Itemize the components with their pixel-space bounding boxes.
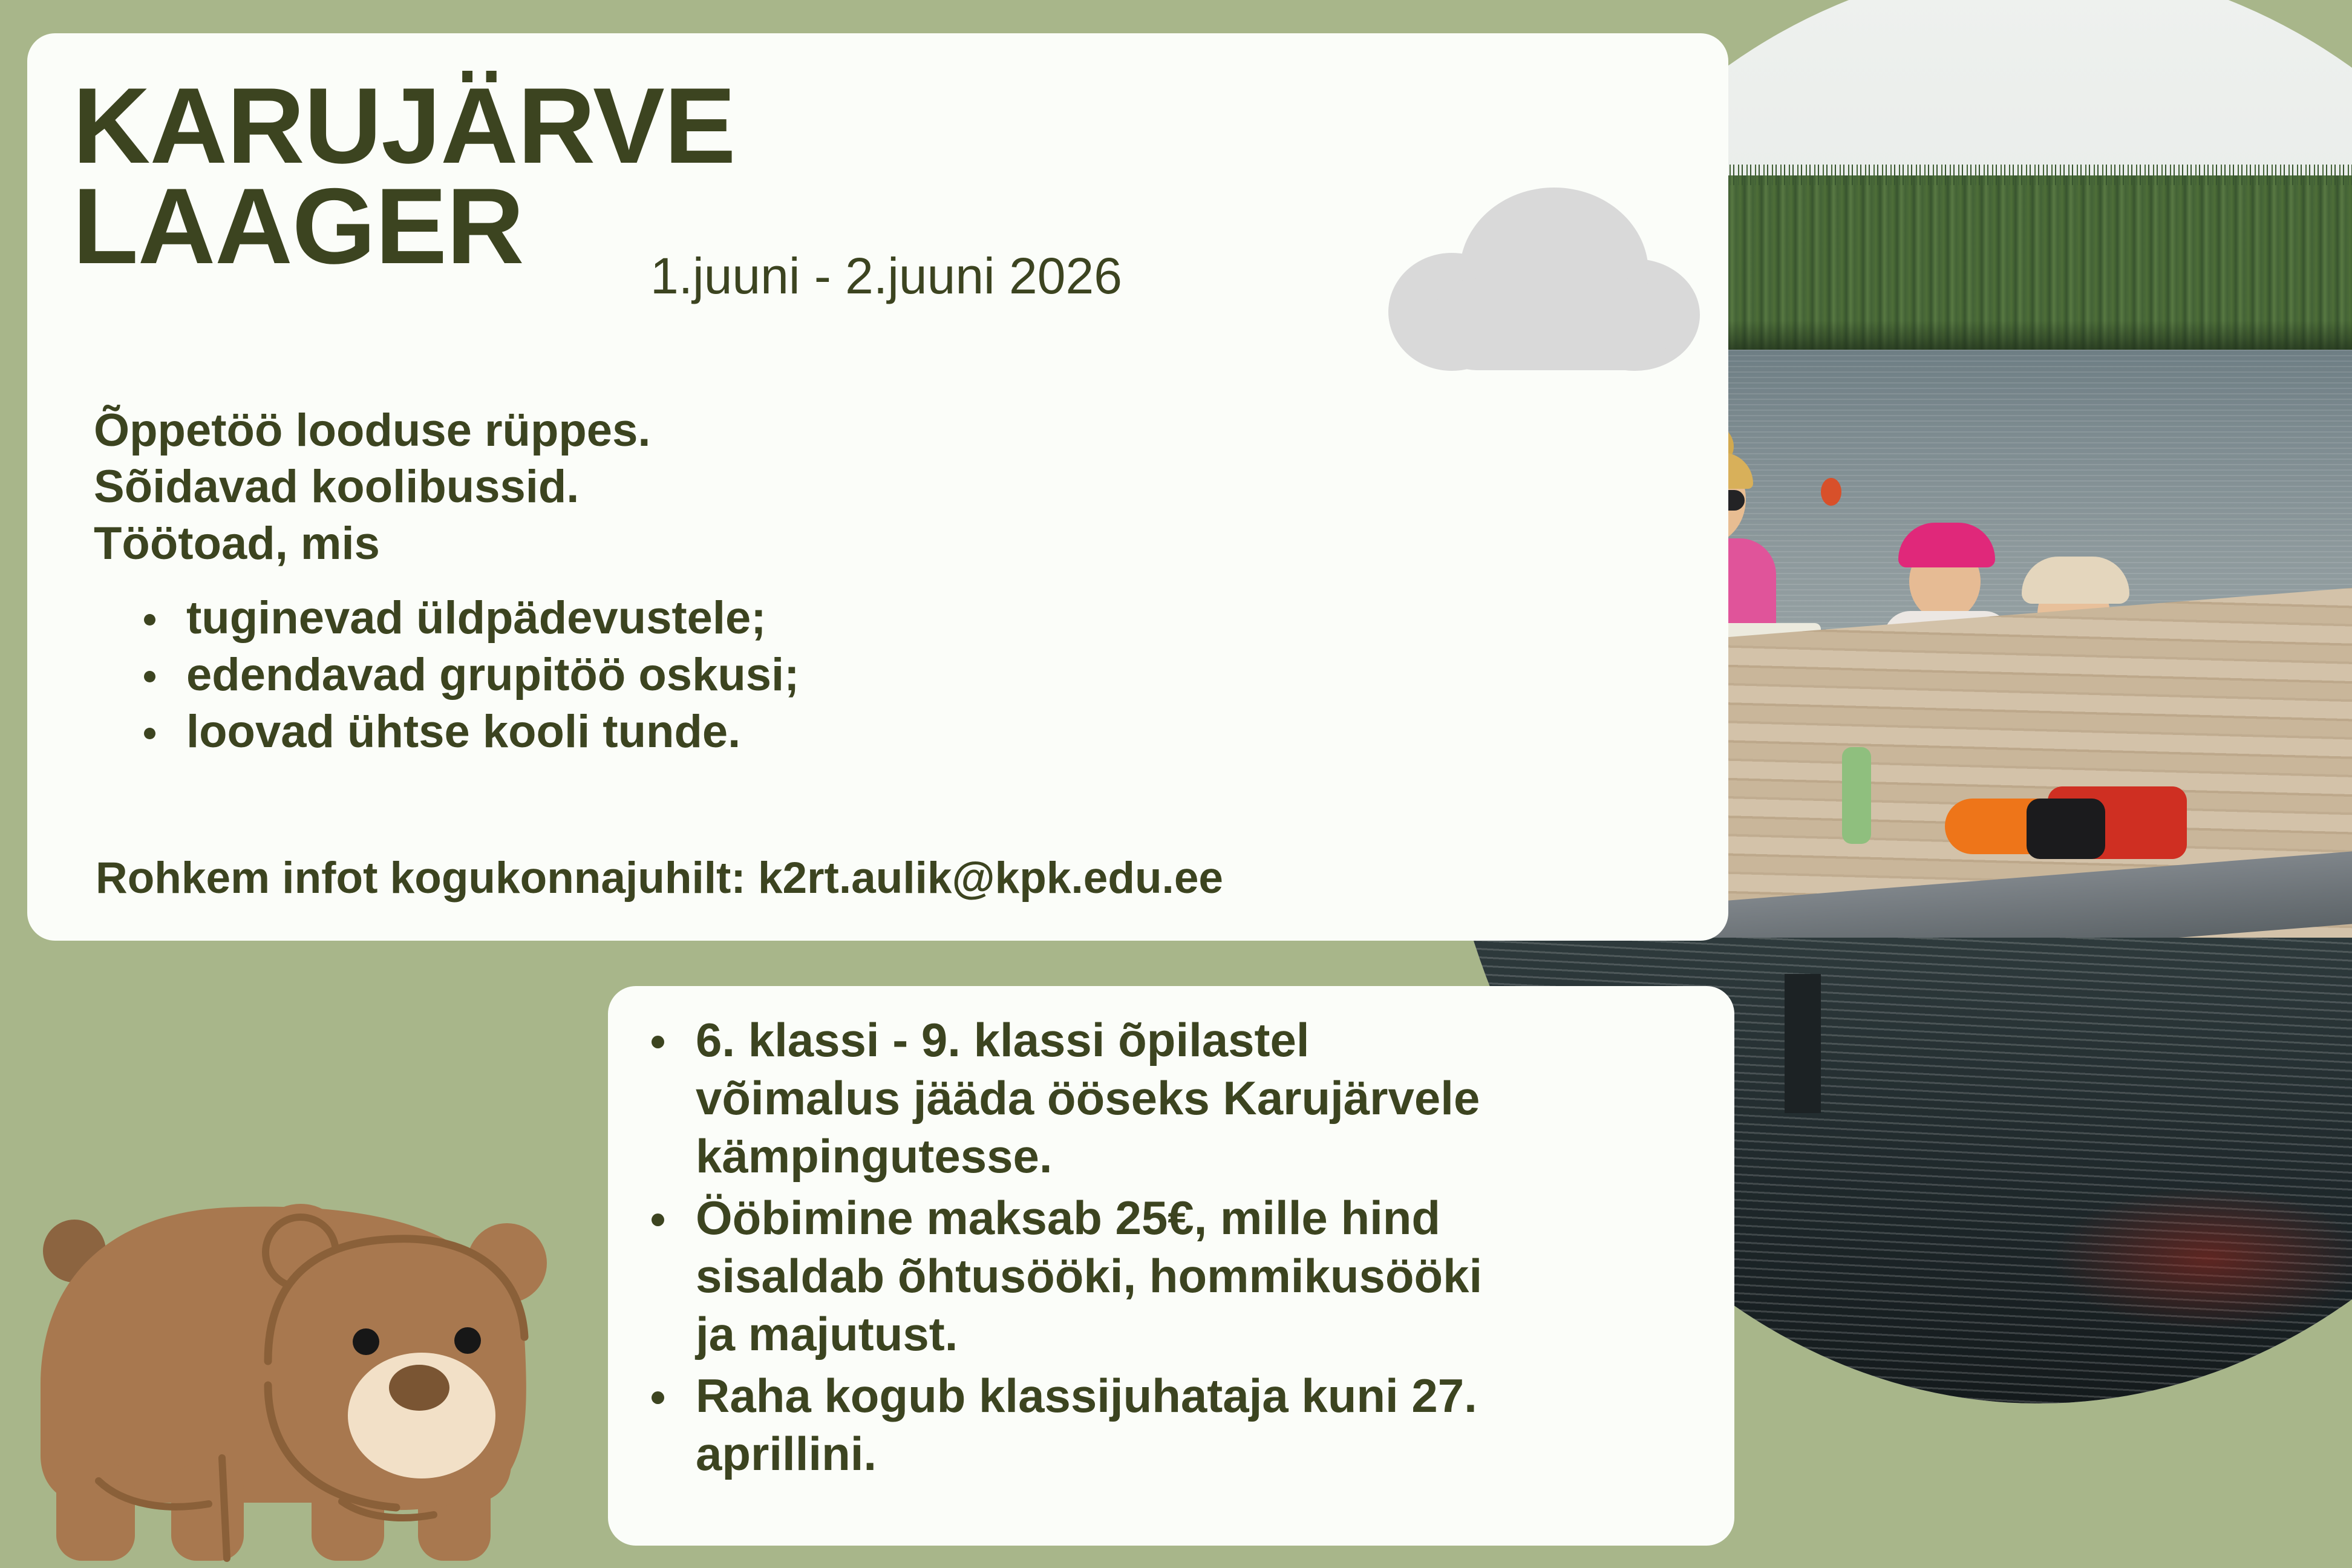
contact-line: Rohkem infot kogukonnajuhilt: k2rt.aulik… [96, 853, 1223, 903]
workshop-bullet-label: tuginevad üldpädevustele; [186, 592, 766, 644]
intro-block: Õppetöö looduse rüppes. Sõidavad koolibu… [94, 402, 650, 572]
intro-line-3: Töötoad, mis [94, 515, 650, 572]
intro-line-1: Õppetöö looduse rüppes. [94, 402, 650, 459]
date-range: 1.juuni - 2.juuni 2026 [650, 247, 1122, 305]
workshop-bullet-label: loovad ühtse kooli tunde. [186, 706, 740, 757]
details-bullet-label: Raha kogub klassijuhataja kuni 27. april… [696, 1369, 1477, 1480]
cloud-icon [1388, 188, 1739, 369]
list-item: tuginevad üldpädevustele; [133, 590, 799, 647]
list-item: edendavad grupitöö oskusi; [133, 647, 799, 704]
photo-buoy [1821, 478, 1841, 506]
bear-illustration [27, 1101, 547, 1567]
details-bullet-label: Ööbimine maksab 25€, mille hind sisaldab… [696, 1191, 1482, 1361]
workshop-bullet-label: edendavad grupitöö oskusi; [186, 649, 799, 701]
details-bullet-label: 6. klassi - 9. klassi õpilastel võimalus… [696, 1013, 1480, 1183]
list-item: loovad ühtse kooli tunde. [133, 704, 799, 760]
list-item: 6. klassi - 9. klassi õpilastel võimalus… [638, 1011, 1497, 1186]
poster-canvas: KARUJÄRVE LAAGER 1.juuni - 2.juuni 2026 … [0, 0, 2352, 1568]
workshop-bullet-list: tuginevad üldpädevustele; edendavad grup… [133, 590, 799, 761]
contact-label: Rohkem infot kogukonnajuhilt: [96, 854, 746, 903]
list-item: Raha kogub klassijuhataja kuni 27. april… [638, 1367, 1497, 1483]
list-item: Ööbimine maksab 25€, mille hind sisaldab… [638, 1189, 1497, 1364]
photo-black-bag [2027, 799, 2105, 859]
photo-water-bottle [1842, 747, 1871, 844]
intro-line-2: Sõidavad koolibussid. [94, 459, 650, 515]
title-line-1: KARUJÄRVE [73, 76, 980, 176]
page-title: KARUJÄRVE LAAGER [73, 76, 980, 276]
photo-dock-pile [1785, 974, 1821, 1113]
details-bullet-list: 6. klassi - 9. klassi õpilastel võimalus… [638, 1011, 1497, 1487]
contact-email[interactable]: k2rt.aulik@kpk.edu.ee [758, 854, 1223, 903]
